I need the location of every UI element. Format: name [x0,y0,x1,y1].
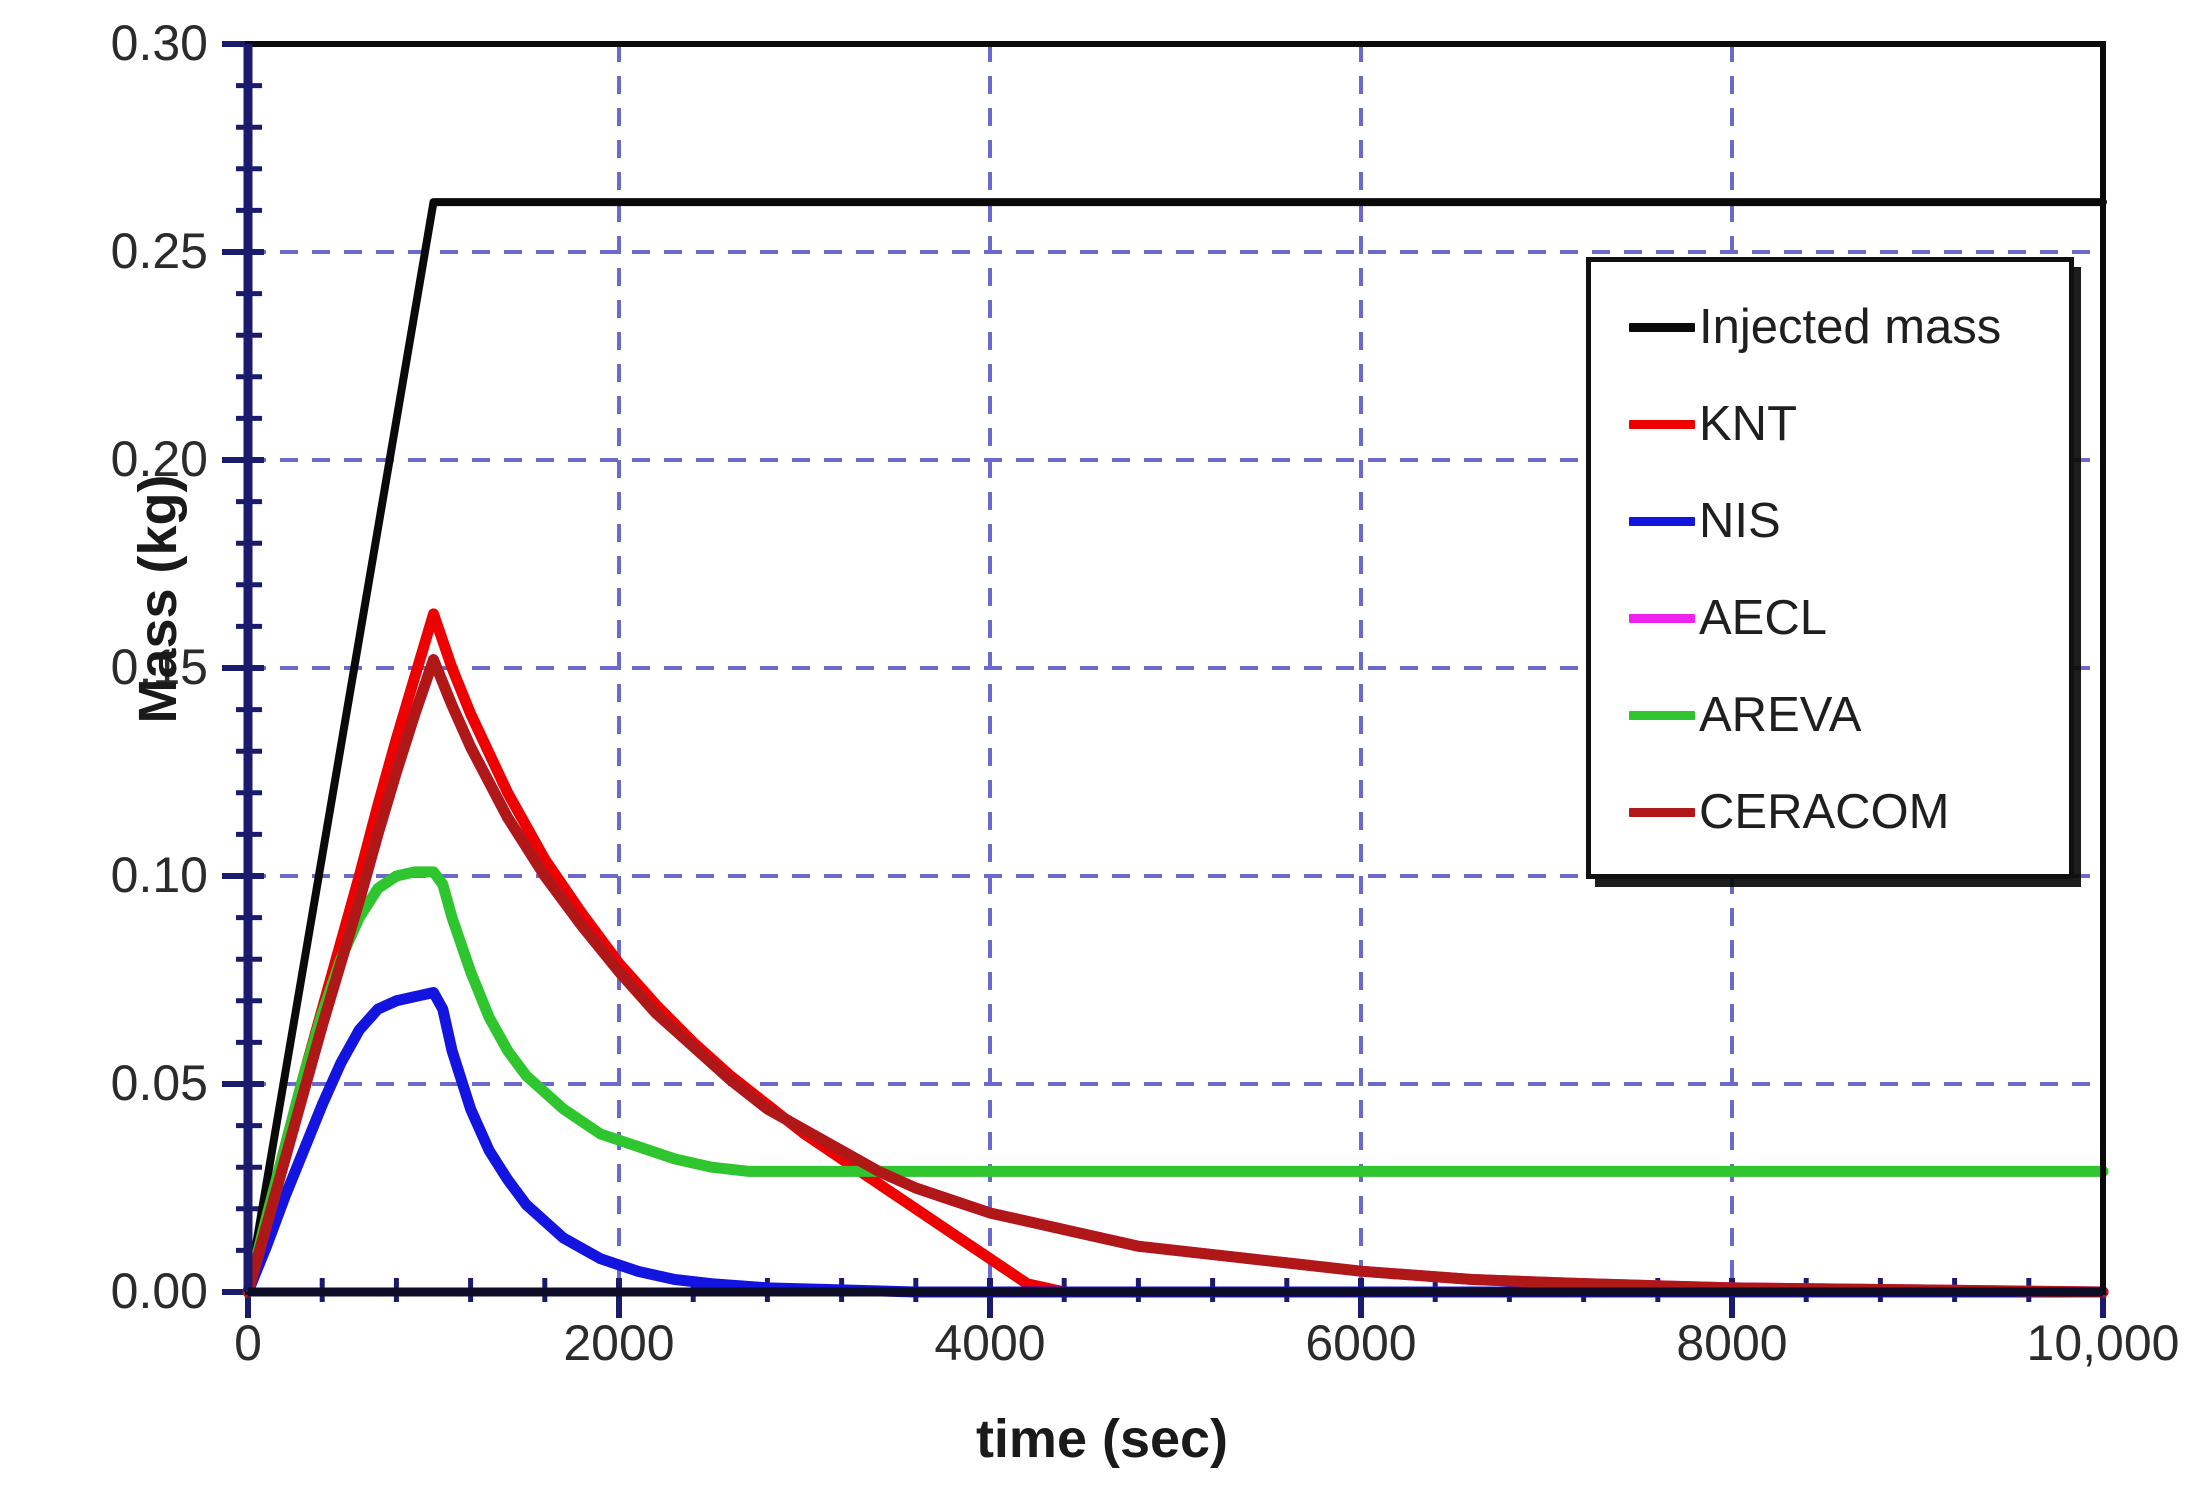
y-tick-label: 0.30 [28,18,208,68]
legend-label: AECL [1699,594,1827,643]
legend-label: NIS [1699,497,1781,546]
legend-color-swatch [1629,420,1695,429]
legend-items: Injected massKNTNISAECLAREVACERACOM [1591,262,2069,874]
x-tick-label: 10,000 [1953,1318,2204,1368]
y-tick-label: 0.25 [28,226,208,276]
x-tick-label: 6000 [1211,1318,1511,1368]
legend-item[interactable]: CERACOM [1591,767,2069,857]
y-tick-label: 0.00 [28,1266,208,1316]
legend-label: AREVA [1699,691,1861,740]
chart-figure: 0.000.050.100.150.200.250.30 02000400060… [0,0,2204,1496]
chart-legend: Injected massKNTNISAECLAREVACERACOM [1586,257,2074,879]
legend-label: Injected mass [1699,303,2001,352]
legend-color-swatch [1629,323,1695,332]
x-tick-label: 4000 [840,1318,1140,1368]
legend-color-swatch [1629,711,1695,720]
legend-item[interactable]: Injected mass [1591,283,2069,373]
series-line-areva [248,872,2103,1292]
legend-item[interactable]: AECL [1591,573,2069,663]
y-tick-label: 0.10 [28,850,208,900]
legend-label: KNT [1699,400,1797,449]
legend-item[interactable]: KNT [1591,380,2069,470]
legend-label: CERACOM [1699,788,1949,837]
y-axis-title: Mass (kg) [127,389,189,809]
y-tick-label: 0.05 [28,1058,208,1108]
x-tick-label: 2000 [469,1318,769,1368]
legend-color-swatch [1629,517,1695,526]
legend-item[interactable]: NIS [1591,477,2069,567]
x-tick-label: 0 [98,1318,398,1368]
legend-item[interactable]: AREVA [1591,670,2069,760]
x-axis-title: time (sec) [0,1408,2204,1470]
legend-color-swatch [1629,808,1695,817]
legend-color-swatch [1629,614,1695,623]
x-tick-label: 8000 [1582,1318,1882,1368]
